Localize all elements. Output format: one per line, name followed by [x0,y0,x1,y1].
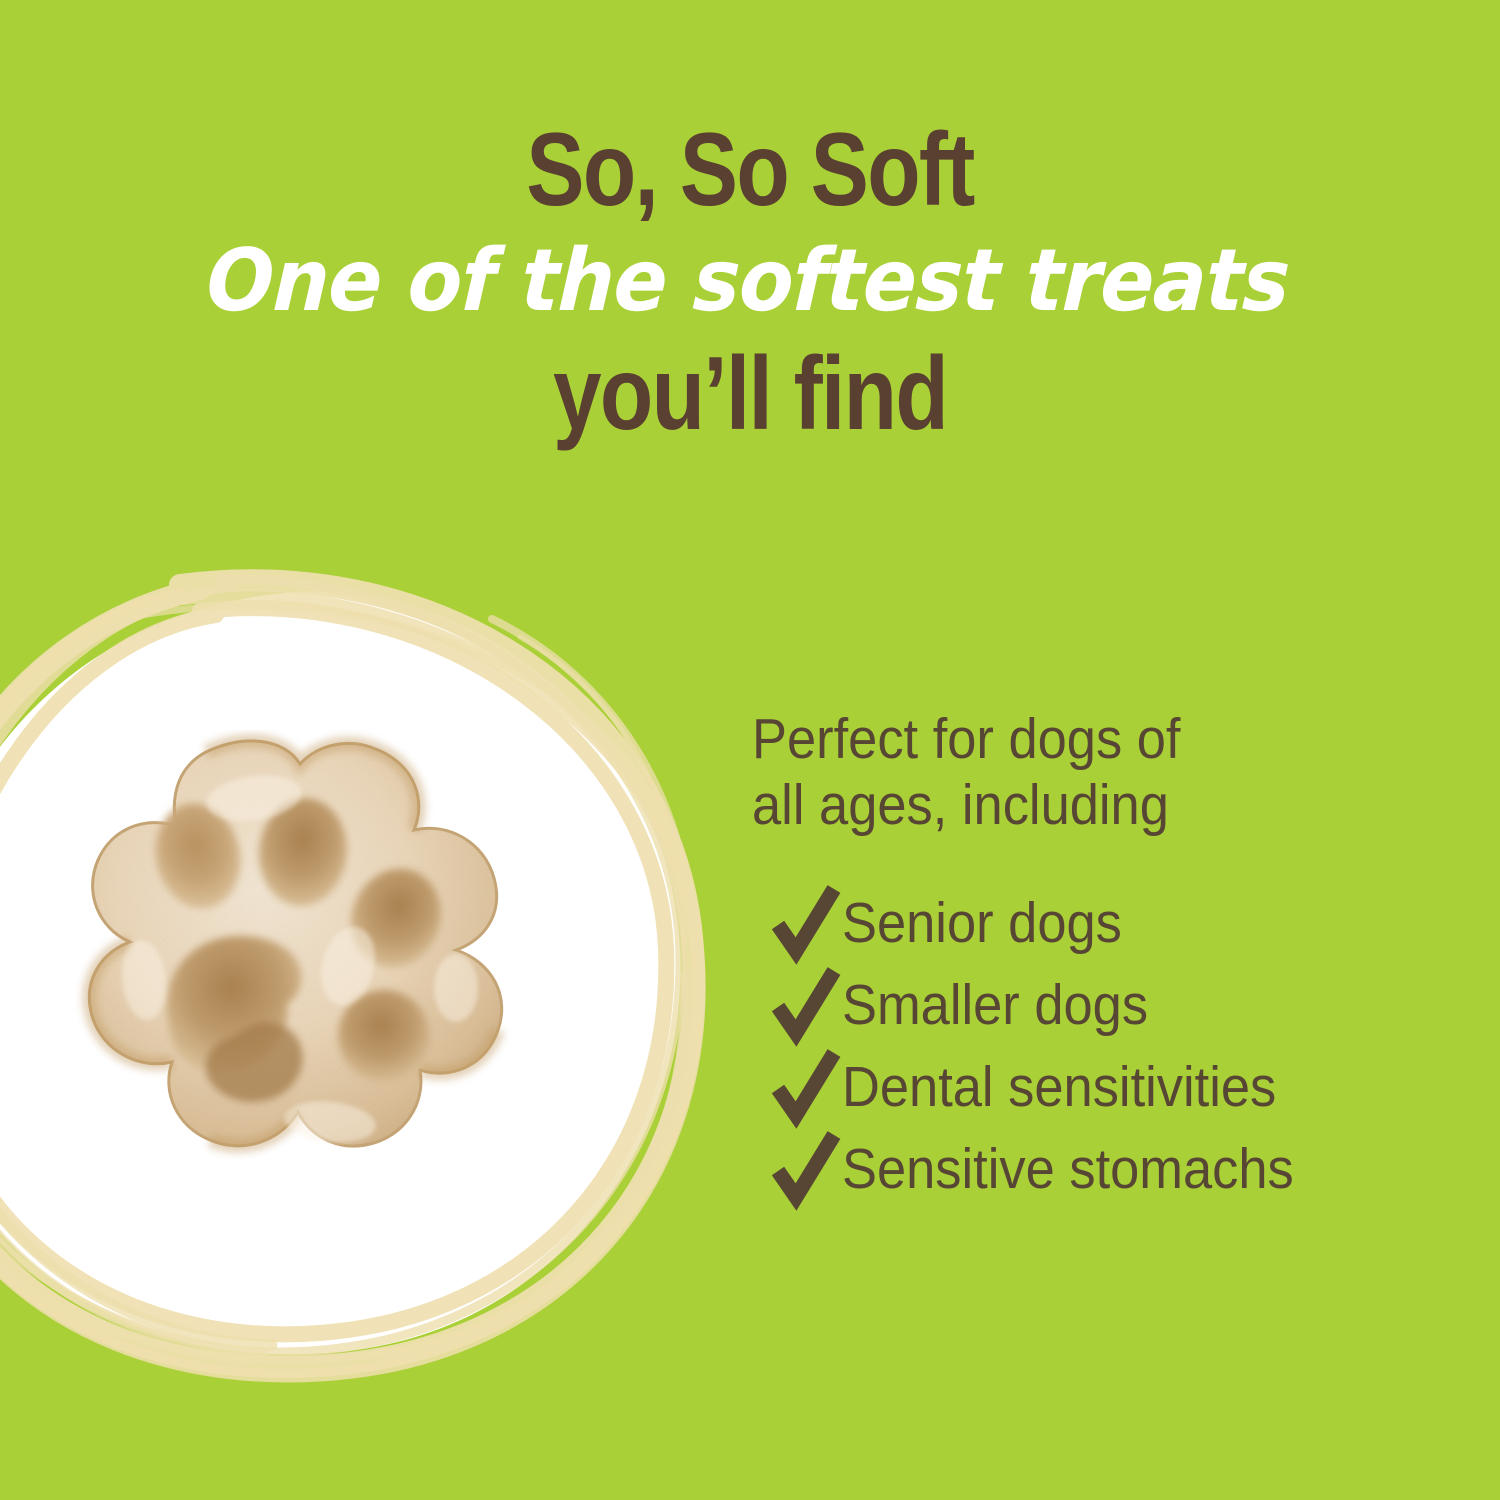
list-item: Dental sensitivities [752,1046,1462,1128]
list-item-label: Sensitive stomachs [842,1141,1294,1198]
headline-block: So, So Soft One of the softest treats yo… [0,118,1500,446]
check-icon [774,885,840,961]
paw-treat-photo [48,730,538,1200]
list-item-label: Smaller dogs [842,977,1148,1034]
benefits-panel: Perfect for dogs of all ages, including … [752,706,1462,1210]
check-icon [774,1131,840,1207]
check-icon [774,1049,840,1125]
headline-subtitle-script: One of the softest treats [56,238,1440,324]
list-item-label: Dental sensitivities [842,1059,1276,1116]
list-item: Smaller dogs [752,964,1462,1046]
check-icon [774,967,840,1043]
benefits-checklist: Senior dogs Smaller dogs Dental sensitiv… [752,882,1462,1210]
list-item-label: Senior dogs [842,895,1122,952]
headline-subtitle-tail: you’ll find [120,342,1380,446]
marketing-banner: So, So Soft One of the softest treats yo… [0,0,1500,1500]
page-title: So, So Soft [120,118,1380,222]
paw-shaped-treat-icon [48,730,538,1200]
list-item: Sensitive stomachs [752,1128,1462,1210]
list-item: Senior dogs [752,882,1462,964]
benefits-intro: Perfect for dogs of all ages, including [752,706,1405,838]
product-image-panel [0,545,740,1405]
